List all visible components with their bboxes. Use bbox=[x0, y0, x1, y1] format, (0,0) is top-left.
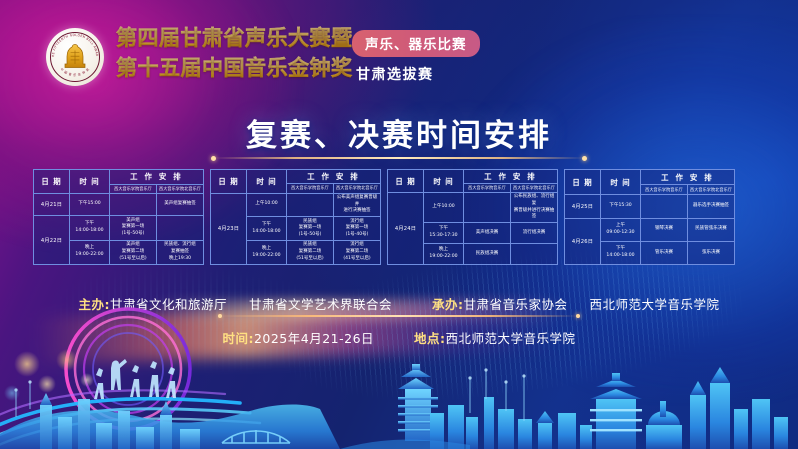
header-date: 日 期 bbox=[388, 170, 424, 193]
gold-bell-emblem-icon: THE FIFTEENTH GOLDEN BELL AWARD 中 国 音 乐 … bbox=[46, 28, 104, 86]
table-cell: 流行组复赛第二场(41号至以后) bbox=[334, 241, 381, 265]
cell-line: 19:00-22:00 bbox=[425, 254, 462, 261]
table-cell: 上午09:00-12:30 bbox=[601, 218, 641, 241]
table-cell: 晚上19:00-22:00 bbox=[247, 241, 287, 265]
schedule-tables: 日 期时 间工 作 安 排西大音乐学院音乐厅西大音乐学院北音乐厅4月21日下午1… bbox=[33, 169, 766, 265]
city-skyline-graphic bbox=[0, 339, 798, 449]
table-cell: 民族组复赛第一场(1号-50号) bbox=[287, 217, 334, 241]
cell-line: 下午 bbox=[71, 221, 108, 228]
cell-line: 下午 bbox=[425, 226, 462, 233]
cell-line: (1号-40号) bbox=[335, 232, 379, 239]
cell-line: 下午15:00 bbox=[71, 201, 108, 208]
headline-section: 复赛、决赛时间安排 bbox=[0, 110, 798, 155]
poster-canvas: THE FIFTEENTH GOLDEN BELL AWARD 中 国 音 乐 … bbox=[0, 0, 798, 449]
table-cell: 流行组复赛第一场(1号-40号) bbox=[334, 217, 381, 241]
schedule-table-3: 日 期时 间工 作 安 排西大音乐学院音乐厅西大音乐学院北音乐厅4月24日上午1… bbox=[387, 169, 558, 265]
cell-line: 15:30-17:30 bbox=[425, 233, 462, 240]
table-cell: 下午15:00 bbox=[70, 194, 110, 216]
table-cell-empty bbox=[511, 244, 558, 265]
header-venue-a: 西大音乐学院音乐厅 bbox=[287, 184, 334, 193]
cell-line: (51号至以后) bbox=[288, 256, 332, 263]
header-venue-b: 西大音乐学院北音乐厅 bbox=[334, 184, 381, 193]
table-cell: 美声组复赛第一场(1号-50号) bbox=[110, 216, 157, 240]
table-cell: 美声组复赛第二场(51号至以后) bbox=[110, 240, 157, 264]
cell-line: 下午 bbox=[602, 246, 639, 253]
table-cell: 晚上19:00-22:00 bbox=[424, 244, 464, 265]
bokeh-light bbox=[56, 349, 78, 371]
event-title-line2: 第十五届中国音乐金钟奖 bbox=[116, 54, 353, 84]
cell-line: 流行组决赛 bbox=[512, 230, 556, 237]
table-cell: 下午14:00-18:00 bbox=[601, 241, 641, 264]
table-cell: 下午15:30-17:30 bbox=[424, 223, 464, 244]
header-time: 时 间 bbox=[601, 170, 641, 195]
header-venue-b: 西大音乐学院北音乐厅 bbox=[688, 185, 735, 195]
cell-line: 14:00-18:00 bbox=[71, 228, 108, 235]
header-arrangement: 工 作 安 排 bbox=[641, 170, 735, 185]
cell-line: (51号至以后) bbox=[111, 256, 155, 263]
table-cell: 上午10:00 bbox=[424, 193, 464, 223]
cell-line: 赛晋级并进行决赛抽签 bbox=[512, 208, 556, 222]
table-cell-empty bbox=[110, 194, 157, 216]
header-date: 日 期 bbox=[565, 170, 601, 195]
cell-line: 14:00-18:00 bbox=[248, 229, 285, 236]
table-row: 4月23日上午10:00公布美声组复赛晋级并进行决赛抽签 bbox=[211, 193, 381, 217]
table-cell-date: 4月26日 bbox=[565, 218, 601, 264]
cell-line: 14:00-18:00 bbox=[602, 253, 639, 260]
header-venue-b: 西大音乐学院北音乐厅 bbox=[157, 184, 204, 193]
cell-line: 民族组决赛 bbox=[465, 251, 509, 258]
table-cell: 下午15:30 bbox=[601, 195, 641, 218]
table-cell: 公布民族组、流行组复赛晋级并进行决赛抽签 bbox=[511, 193, 558, 223]
cell-line: 19:00-22:00 bbox=[71, 252, 108, 259]
header-arrangement: 工 作 安 排 bbox=[287, 170, 381, 184]
header-venue-a: 西大音乐学院音乐厅 bbox=[464, 184, 511, 193]
schedule-table-2: 日 期时 间工 作 安 排西大音乐学院音乐厅西大音乐学院北音乐厅4月23日上午1… bbox=[210, 169, 381, 265]
table-cell: 弦乐决赛 bbox=[688, 241, 735, 264]
table-cell: 晚上19:00-22:00 bbox=[70, 240, 110, 264]
cell-line: 09:00-12:30 bbox=[602, 230, 639, 237]
event-title-line1: 第四届甘肃省声乐大赛暨 bbox=[116, 24, 353, 54]
cell-line: 下午15:30 bbox=[602, 203, 639, 210]
table-cell: 民族管弦乐决赛 bbox=[688, 218, 735, 241]
table-cell: 民族组复赛第二场(51号至以后) bbox=[287, 241, 334, 265]
poster-header: THE FIFTEENTH GOLDEN BELL AWARD 中 国 音 乐 … bbox=[0, 26, 798, 90]
cell-line: 美声组决赛 bbox=[465, 230, 509, 237]
table-cell: 下午14:00-18:00 bbox=[247, 217, 287, 241]
bell-glyph-icon bbox=[62, 43, 88, 71]
schedule-table-4: 日 期时 间工 作 安 排西大音乐学院音乐厅西大音乐学院北音乐厅4月25日下午1… bbox=[564, 169, 735, 265]
header-date: 日 期 bbox=[34, 170, 70, 194]
table-cell-date: 4月25日 bbox=[565, 195, 601, 218]
cell-line: 上午 bbox=[602, 223, 639, 230]
table-cell: 美声组复赛抽签 bbox=[157, 194, 204, 216]
header-date: 日 期 bbox=[211, 170, 247, 194]
page-title: 复赛、决赛时间安排 bbox=[246, 110, 552, 155]
cell-line: 美声组 bbox=[111, 242, 155, 249]
cell-line: 弦乐决赛 bbox=[689, 250, 733, 257]
cell-line: 下午 bbox=[248, 222, 285, 229]
header-time: 时 间 bbox=[70, 170, 110, 194]
cell-line: 晚上 bbox=[248, 246, 285, 253]
cell-line: (1号-50号) bbox=[111, 231, 155, 238]
table-cell-date: 4月22日 bbox=[34, 216, 70, 265]
table-cell: 下午14:00-18:00 bbox=[70, 216, 110, 240]
table-cell-empty bbox=[157, 216, 204, 240]
bokeh-light bbox=[4, 385, 20, 401]
table-cell: 上午10:00 bbox=[247, 193, 287, 217]
header-venue-a: 西大音乐学院音乐厅 bbox=[110, 184, 157, 193]
event-badge-group: 声乐、器乐比赛 甘肃选拔赛 bbox=[352, 30, 480, 84]
cell-line: 晚上19:30 bbox=[158, 256, 202, 263]
cell-line: 钢琴决赛 bbox=[642, 226, 686, 233]
competition-category-badge: 声乐、器乐比赛 bbox=[352, 30, 480, 57]
table-cell-date: 4月24日 bbox=[388, 193, 424, 265]
cell-line: (41号至以后) bbox=[335, 256, 379, 263]
table-cell: 美声组决赛 bbox=[464, 223, 511, 244]
header-arrangement: 工 作 安 排 bbox=[464, 170, 558, 184]
bokeh-light bbox=[38, 375, 56, 393]
header-time: 时 间 bbox=[424, 170, 464, 193]
cell-line: 美声组复赛抽签 bbox=[158, 201, 202, 208]
cell-line: 上午10:00 bbox=[248, 201, 285, 208]
table-row: 4月26日上午09:00-12:30钢琴决赛民族管弦乐决赛 bbox=[565, 218, 735, 241]
table-cell: 管乐决赛 bbox=[641, 241, 688, 264]
header-venue-b: 西大音乐学院北音乐厅 bbox=[511, 184, 558, 193]
cell-line: 晚上 bbox=[425, 247, 462, 254]
table-cell-empty bbox=[287, 193, 334, 217]
table-cell: 民族组决赛 bbox=[464, 244, 511, 265]
table-cell: 器乐选手决赛抽签 bbox=[688, 195, 735, 218]
dome-building bbox=[646, 401, 682, 449]
table-cell: 钢琴决赛 bbox=[641, 218, 688, 241]
cell-line: 上午10:00 bbox=[425, 204, 462, 211]
cell-line: 器乐选手决赛抽签 bbox=[689, 203, 733, 210]
table-cell-date: 4月21日 bbox=[34, 194, 70, 216]
header-time: 时 间 bbox=[247, 170, 287, 194]
bokeh-light bbox=[80, 373, 94, 387]
schedule-table-1: 日 期时 间工 作 安 排西大音乐学院音乐厅西大音乐学院北音乐厅4月21日下午1… bbox=[33, 169, 204, 265]
table-cell-empty bbox=[641, 195, 688, 218]
table-cell: 公布美声组复赛晋级并进行决赛抽签 bbox=[334, 193, 381, 217]
table-row: 4月22日下午14:00-18:00美声组复赛第一场(1号-50号) bbox=[34, 216, 204, 240]
cell-line: 19:00-22:00 bbox=[248, 253, 285, 260]
cell-line: (1号-50号) bbox=[288, 232, 332, 239]
cell-line: 公布民族组、流行组复 bbox=[512, 194, 556, 208]
ornamental-gate bbox=[590, 373, 642, 449]
cell-line: 复赛抽签 bbox=[158, 249, 202, 256]
bottom-artwork bbox=[0, 299, 798, 449]
header-venue-a: 西大音乐学院音乐厅 bbox=[641, 185, 688, 195]
cell-line: 复赛第二场 bbox=[335, 249, 379, 256]
cell-line: 复赛第二场 bbox=[111, 249, 155, 256]
selection-subtitle: 甘肃选拔赛 bbox=[356, 64, 480, 84]
table-cell: 流行组决赛 bbox=[511, 223, 558, 244]
table-row: 4月24日上午10:00公布民族组、流行组复赛晋级并进行决赛抽签 bbox=[388, 193, 558, 223]
cell-line: 复赛第二场 bbox=[288, 249, 332, 256]
table-cell-empty bbox=[464, 193, 511, 223]
cell-line: 民族管弦乐决赛 bbox=[689, 226, 733, 233]
table-cell: 民族组、流行组复赛抽签晚上19:30 bbox=[157, 240, 204, 264]
event-title: 第四届甘肃省声乐大赛暨 第十五届中国音乐金钟奖 bbox=[116, 24, 353, 84]
bokeh-light bbox=[14, 351, 40, 377]
table-row: 4月21日下午15:00美声组复赛抽签 bbox=[34, 194, 204, 216]
header-arrangement: 工 作 安 排 bbox=[110, 170, 204, 185]
cell-line: 管乐决赛 bbox=[642, 250, 686, 257]
cell-line: 进行决赛抽签 bbox=[335, 208, 379, 215]
cell-line: 民族组、流行组 bbox=[158, 242, 202, 249]
table-row: 4月25日下午15:30器乐选手决赛抽签 bbox=[565, 195, 735, 218]
table-cell-date: 4月23日 bbox=[211, 193, 247, 264]
headline-divider bbox=[213, 157, 585, 159]
cell-line: 公布美声组复赛晋级并 bbox=[335, 195, 379, 209]
